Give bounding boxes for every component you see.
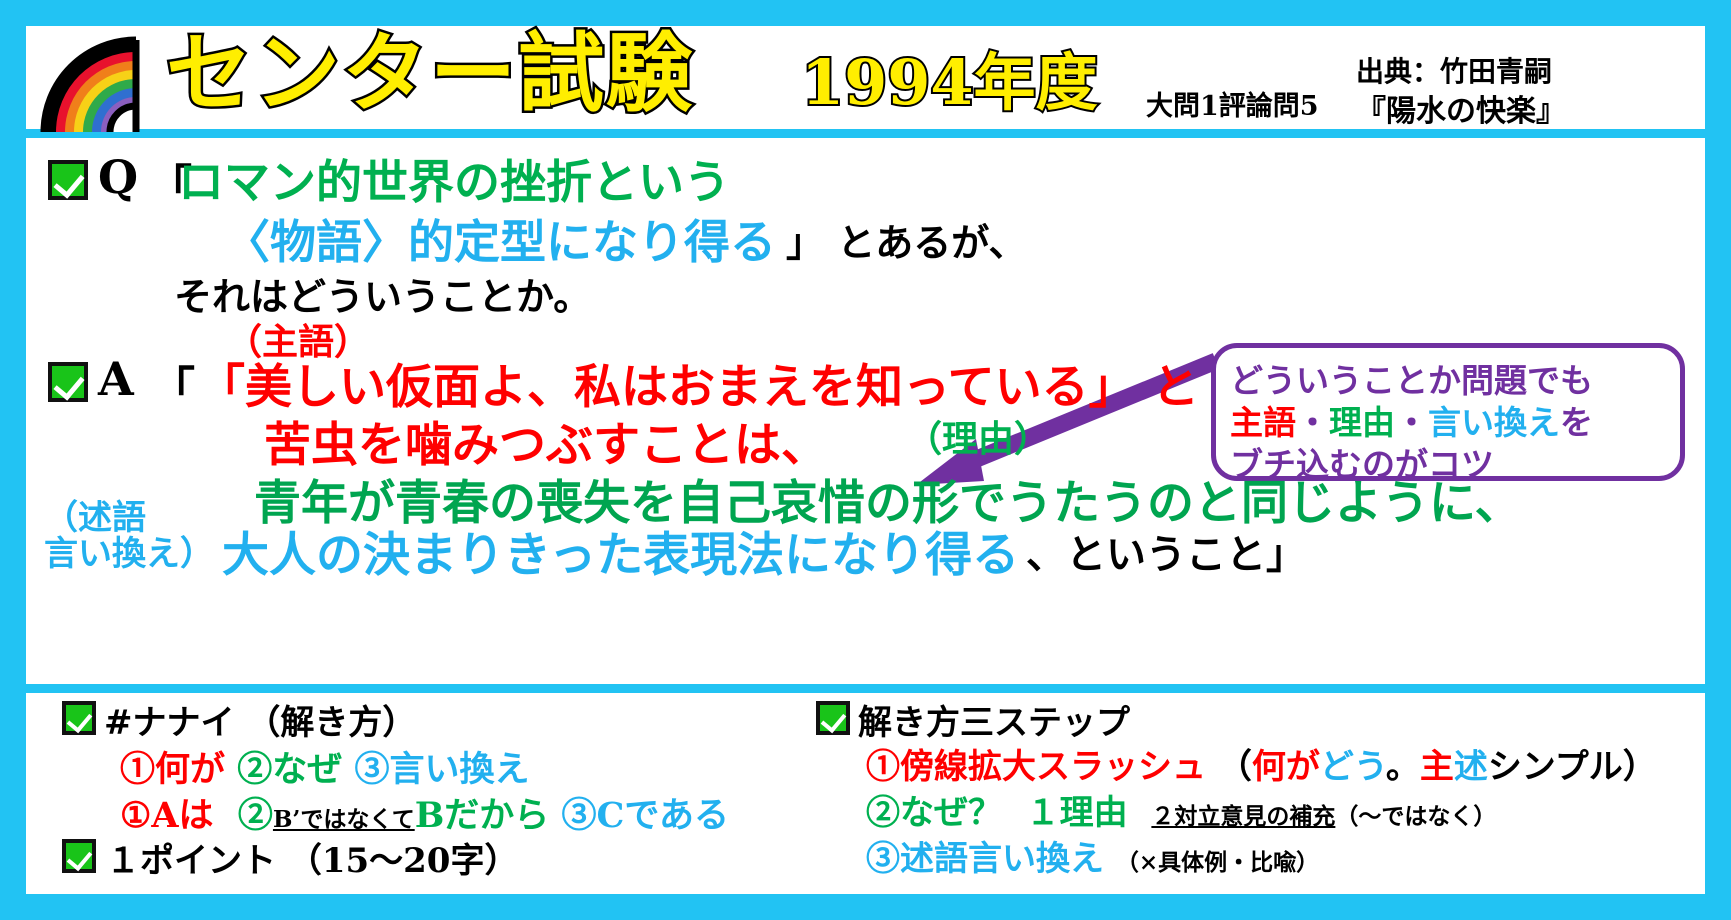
step2-num: ② (866, 793, 900, 833)
nanai-row1-num1: ① (120, 749, 155, 790)
source-author: 出典：竹田青嗣 (1356, 50, 1552, 90)
nanai-row2-text1: Aは (151, 795, 213, 836)
source-work: 『陽水の快楽』 (1356, 86, 1566, 130)
callout-word-paraphrase: 言い換え (1428, 403, 1560, 442)
nanai-row2-text3: Cである (597, 795, 730, 836)
step1-paren-a: 何が (1252, 747, 1320, 787)
step1-paren-b: どう (1320, 747, 1386, 787)
nanai-checkbox-icon[interactable] (62, 701, 96, 735)
q-line2-tail: 」 とあるが、 (786, 212, 1026, 267)
nanai-row2-small: B’ではなくて (273, 806, 415, 833)
nanai-row1-text3: 言い換え (389, 749, 529, 790)
step1-num: ① (866, 747, 900, 787)
step2-sub1: １理由 (1026, 793, 1128, 833)
footer-section: #ナナイ （解き方） ①何が ②なぜ ③言い換え ①Aは ②B’ではなくてBだか… (26, 693, 1705, 897)
nanai-row1-text1: 何が (155, 749, 225, 790)
step2-text: なぜ？ (900, 793, 1002, 833)
callout-box: どういうことか問題でも 主語・理由・言い換えを ブチ込むのがコツ (1211, 343, 1685, 481)
qa-section: Q 「 ロマン的世界の挫折という 〈物語〉的定型になり得る 」 とあるが、 それ… (26, 138, 1705, 693)
step1-paren-c: 。 (1386, 747, 1420, 787)
callout-word-reason: 理由 (1329, 403, 1395, 442)
callout-line1: どういうことか問題でも (1230, 354, 1593, 402)
slide-header: センター試験 1994年度 大問1評論問5 出典：竹田青嗣 『陽水の快楽』 (26, 26, 1705, 138)
steps-checkbox-icon[interactable] (816, 701, 850, 735)
step1-paren-e: 述 (1454, 747, 1488, 787)
nanai-row1-num3: ③ (354, 749, 389, 790)
nanai-row1-num2: ② (237, 749, 272, 790)
step1-paren-f: シンプル） (1488, 747, 1657, 787)
q-marker: Q (98, 150, 138, 204)
rainbow-icon (38, 32, 150, 132)
a-line4: 大人の決まりきった表現法になり得る (222, 516, 1019, 585)
exam-reference: 大問1評論問5 (1146, 84, 1319, 123)
step1-text: 傍線拡大スラッシュ (900, 747, 1206, 787)
step2-sub2: ２対立意見の補充 (1151, 803, 1335, 830)
a-checkbox-icon[interactable] (48, 362, 88, 402)
a-line4-tail: 、ということ」 (1026, 522, 1306, 580)
step1-paren-d: 主 (1420, 747, 1454, 787)
callout-word-subject: 主語 (1230, 403, 1296, 442)
tag-reason: （理由） (906, 410, 1050, 462)
q-line1-quote: ロマン的世界の挫折という (178, 146, 730, 212)
nanai-row2-text2: Bだから (415, 795, 550, 836)
a-open-bracket: 「 (151, 352, 195, 416)
nanai-row2-num2: ② (238, 795, 273, 836)
point-checkbox-icon[interactable] (62, 839, 96, 873)
callout-sep-1: ・ (1296, 403, 1329, 442)
step1-paren-open: （ (1218, 747, 1252, 787)
a-marker: A (98, 352, 134, 406)
callout-sep-2: ・ (1395, 403, 1428, 442)
callout-particle: を (1560, 403, 1593, 442)
page-title: センター試験 (166, 22, 694, 126)
nanai-row1-text2: なぜ (272, 749, 342, 790)
step3-num: ③ (866, 839, 900, 879)
q-line2-quote: 〈物語〉的定型になり得る (224, 206, 776, 272)
step3-sub: （×具体例・比喩） (1116, 849, 1319, 876)
exam-year: 1994年度 (801, 48, 1098, 118)
q-checkbox-icon[interactable] (48, 160, 88, 200)
steps-heading: 解き方三ステップ (858, 695, 1130, 744)
nanai-row2-num1: ① (120, 795, 151, 836)
nanai-row2-num3: ③ (561, 795, 596, 836)
point-line: １ポイント （15〜20字） (106, 833, 518, 882)
step2-sub3: （〜ではなく） (1335, 803, 1496, 830)
nanai-heading: #ナナイ （解き方） (104, 695, 416, 744)
slide-canvas: センター試験 1994年度 大問1評論問5 出典：竹田青嗣 『陽水の快楽』 Q … (26, 26, 1705, 894)
tag-predicate-2: 言い換え） (44, 526, 214, 575)
step3-text: 述語言い換え (900, 839, 1104, 879)
